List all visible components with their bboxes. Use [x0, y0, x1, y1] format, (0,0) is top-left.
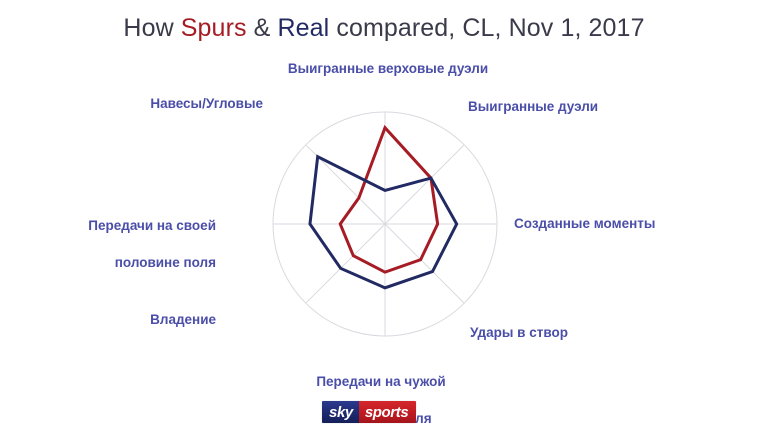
- sky-sports-logo: sky sports: [322, 401, 416, 423]
- logo-sky-text: sky: [322, 401, 359, 423]
- radar-grid: [273, 112, 497, 336]
- axis-label-aerial-duels-won: Выигранные верховые дуэли: [238, 60, 538, 78]
- radar-series-spurs: [340, 128, 437, 272]
- axis-label-chances-created: Созданные моменты: [514, 215, 754, 233]
- axis-label-line-2: половине поля: [115, 255, 216, 270]
- axis-label-shots-on-target: Удары в створ: [470, 324, 690, 342]
- axis-label-crosses-corners: Навесы/Угловые: [58, 95, 263, 113]
- axis-label-line-1: Передачи на чужой: [316, 374, 445, 389]
- axis-label-passes-own-half: Передачи на своей половине поля: [14, 199, 216, 272]
- chart-canvas: How Spurs & Real compared, CL, Nov 1, 20…: [0, 0, 768, 432]
- axis-label-line-1: Передачи на своей: [88, 218, 216, 233]
- axis-label-duels-won: Выигранные дуэли: [468, 98, 698, 116]
- logo-sports-text: sports: [359, 401, 416, 423]
- radar-series: [310, 128, 457, 288]
- radar-axis-line: [385, 145, 464, 224]
- axis-label-possession: Владение: [24, 311, 216, 329]
